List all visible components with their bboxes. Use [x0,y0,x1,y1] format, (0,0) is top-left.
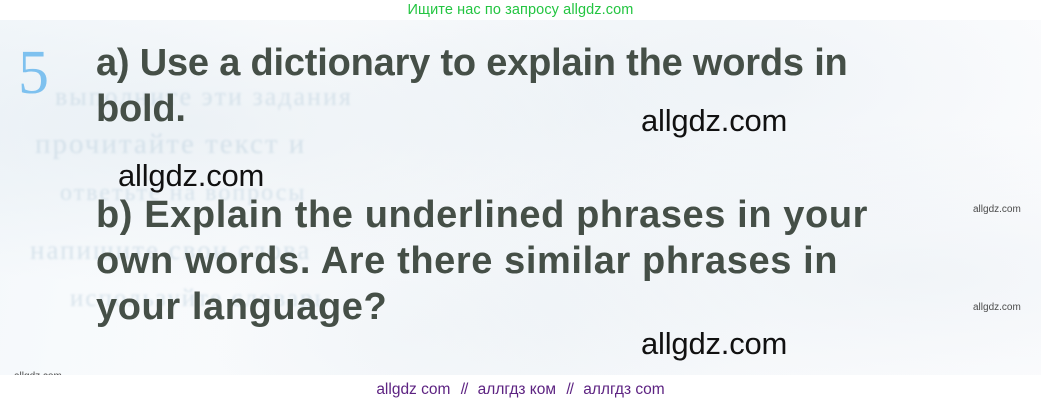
task-b-line-2: own words. Are there similar phrases in [96,238,996,284]
task-a-line-1: a) Use a dictionary to explain the words… [96,40,996,86]
watermark-large: allgdz.com [641,105,787,136]
footer-segment-2: аллгдз ком [476,381,558,398]
task-part-b: b) Explain the underlined phrases in you… [96,192,996,330]
watermark-small: allgdz.com [973,205,1021,215]
footer-separator: // [457,381,472,398]
task-b-line-1: b) Explain the underlined phrases in you… [96,192,996,238]
scanned-textbook-page: Ищите нас по запросу allgdz.com выполнит… [0,0,1041,405]
footer-separator: // [562,381,577,398]
watermark-large: allgdz.com [641,328,787,359]
task-a-line-2: bold. [96,86,996,132]
task-part-a: a) Use a dictionary to explain the words… [96,40,996,132]
footer-segment-3: аллгдз com [581,381,666,398]
watermark-large: allgdz.com [118,160,264,191]
footer-segment-1: allgdz com [374,381,452,398]
scan-area: выполните эти задания прочитайте текст и… [0,20,1041,375]
task-b-line-3: your language? [96,284,996,330]
promo-banner-text: Ищите нас по запросу allgdz.com [0,0,1041,20]
footer-branding-bar: allgdz com // аллгдз ком // аллгдз com [0,375,1041,405]
exercise-number: 5 [18,42,49,104]
watermark-small: allgdz.com [973,303,1021,313]
bleed-through-text: прочитайте текст и [35,128,306,161]
